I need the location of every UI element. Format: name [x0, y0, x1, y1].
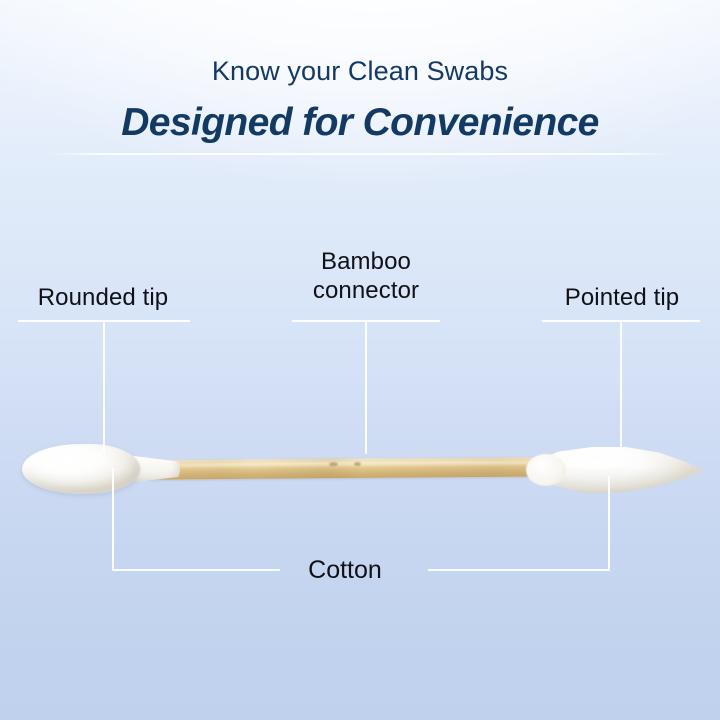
pointed-tip-collar [526, 454, 566, 486]
leader-line-cotton-left [112, 468, 114, 570]
callout-label-bamboo-connector: Bamboo connector [280, 247, 452, 305]
callout-label-rounded-tip: Rounded tip [8, 283, 198, 312]
pointed-cotton-tip [534, 446, 704, 494]
leader-line-cotton-bottom-left [112, 569, 280, 571]
callout-label-pointed-tip: Pointed tip [535, 283, 709, 312]
leader-line-pointed-tip [620, 322, 622, 453]
cotton-swab-illustration [0, 408, 720, 528]
leader-line-cotton-bottom-right [428, 569, 610, 571]
leader-line-rounded-tip [103, 322, 105, 452]
leader-line-cotton-right [608, 476, 610, 570]
bamboo-stick [148, 456, 560, 479]
bamboo-grain-texture [148, 456, 560, 479]
rounded-cotton-tip [22, 444, 174, 494]
infographic-canvas: Know your Clean Swabs Designed for Conve… [0, 0, 720, 720]
rounded-tip-bulb [22, 444, 140, 494]
leader-line-bamboo-connector [365, 322, 367, 454]
callout-label-cotton: Cotton [270, 555, 420, 585]
headline-divider [45, 153, 675, 155]
page-title: Designed for Convenience [0, 100, 720, 146]
kicker-text: Know your Clean Swabs [0, 56, 720, 86]
